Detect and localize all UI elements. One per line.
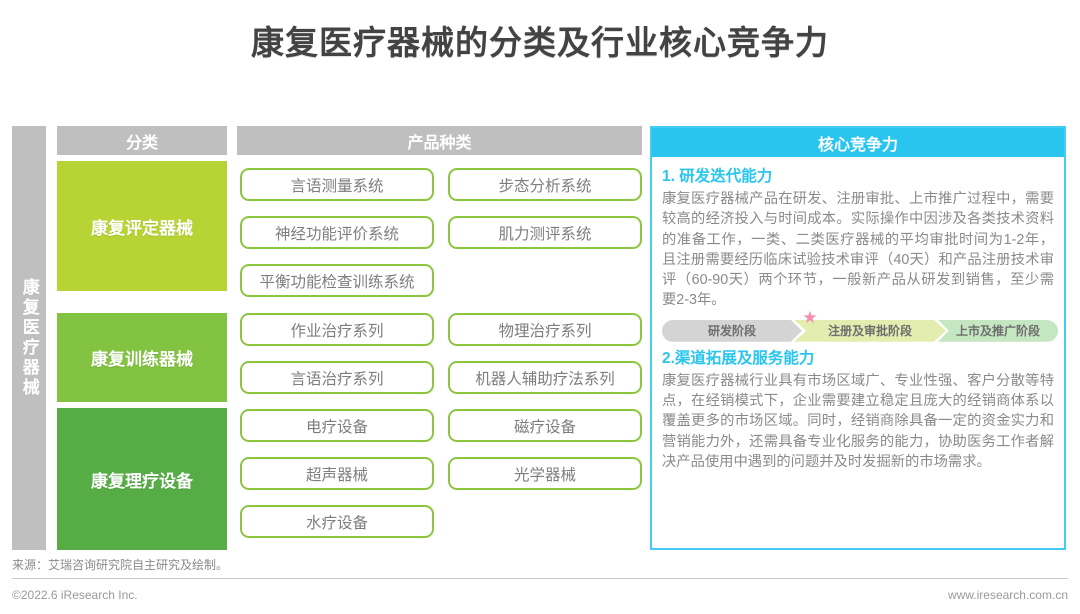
product-pill: 水疗设备 — [240, 505, 434, 538]
stage-launch: 上市及推广阶段 — [938, 320, 1058, 342]
category-block-physiotherapy: 康复理疗设备 — [57, 408, 227, 550]
page-title: 康复医疗器械的分类及行业核心竞争力 — [0, 16, 1080, 64]
competitiveness-panel-header: 核心竞争力 — [652, 128, 1064, 157]
product-pill: 平衡功能检查训练系统 — [240, 264, 434, 297]
product-pill: 磁疗设备 — [448, 409, 642, 442]
section-2-text: 康复医疗器械行业具有市场区域广、专业性强、客户分散等特点，在经销模式下，企业需要… — [662, 371, 1054, 472]
product-pill: 光学器械 — [448, 457, 642, 490]
product-pill: 电疗设备 — [240, 409, 434, 442]
star-marker-icon: ★ — [802, 310, 818, 326]
product-column-header: 产品种类 — [237, 126, 642, 155]
spine-bar: 康复医疗器械 — [12, 126, 46, 550]
product-pill: 言语测量系统 — [240, 168, 434, 201]
product-pill: 机器人辅助疗法系列 — [448, 361, 642, 394]
competitiveness-panel-body: 1. 研发迭代能力 康复医疗器械产品在研发、注册审批、上市推广过程中，需要较高的… — [652, 157, 1064, 472]
product-pill: 作业治疗系列 — [240, 313, 434, 346]
stage-rnd: 研发阶段 — [662, 320, 802, 342]
section-2-title: 2.渠道拓展及服务能力 — [662, 346, 1054, 368]
competitiveness-panel: 核心竞争力 1. 研发迭代能力 康复医疗器械产品在研发、注册审批、上市推广过程中… — [650, 126, 1066, 550]
website-url: www.iresearch.com.cn — [948, 588, 1068, 602]
product-pill: 步态分析系统 — [448, 168, 642, 201]
source-note: 来源：艾瑞咨询研究院自主研究及绘制。 — [12, 556, 228, 573]
stage-progress-bar: 研发阶段 注册及审批阶段 上市及推广阶段 ★ — [662, 320, 1054, 342]
product-pill: 超声器械 — [240, 457, 434, 490]
category-block-training: 康复训练器械 — [57, 313, 227, 402]
spine-label: 康复医疗器械 — [19, 278, 39, 398]
product-pill: 肌力测评系统 — [448, 216, 642, 249]
infographic-page: 康复医疗器械的分类及行业核心竞争力 康复医疗器械 分类 产品种类 康复评定器械 … — [0, 0, 1080, 614]
footer-divider — [12, 578, 1068, 579]
category-column-header: 分类 — [57, 126, 227, 155]
product-pill: 物理治疗系列 — [448, 313, 642, 346]
copyright-text: ©2022.6 iResearch Inc. — [12, 588, 138, 602]
section-1-title: 1. 研发迭代能力 — [662, 164, 1054, 186]
product-pill: 言语治疗系列 — [240, 361, 434, 394]
product-pill: 神经功能评价系统 — [240, 216, 434, 249]
section-1-text: 康复医疗器械产品在研发、注册审批、上市推广过程中，需要较高的经济投入与时间成本。… — [662, 189, 1054, 311]
category-block-assessment: 康复评定器械 — [57, 161, 227, 291]
